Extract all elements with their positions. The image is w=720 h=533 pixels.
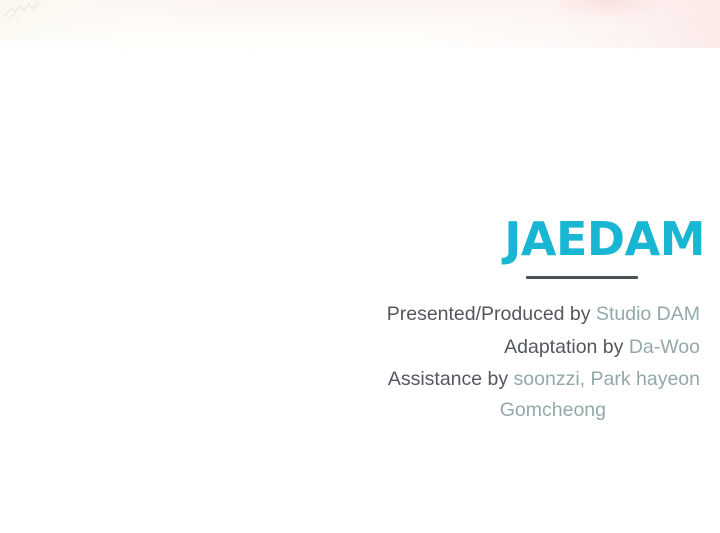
top-rose-highlight xyxy=(560,0,680,22)
credits-card: JAEDAM Presented/Produced by Studio DAM … xyxy=(0,0,720,533)
top-gradient-wash xyxy=(0,0,720,62)
credit-line-presented-produced: Presented/Produced by Studio DAM xyxy=(0,298,700,331)
credit-name-value: Studio DAM xyxy=(596,303,700,325)
corner-smudge-mark xyxy=(2,2,48,30)
jaedam-logo: JAEDAM xyxy=(0,214,712,264)
credit-role-label: Assistance by xyxy=(388,368,514,390)
top-left-gradient-wash xyxy=(0,0,230,40)
credit-name-value: soonzzi, Park hayeon xyxy=(514,368,700,390)
top-right-gradient-wash xyxy=(420,0,720,48)
credit-line-adaptation: Adaptation by Da-Woo xyxy=(0,331,700,364)
top-midband-wash xyxy=(120,30,640,64)
credit-line-assistance: Assistance by soonzzi, Park hayeon Gomch… xyxy=(0,363,700,425)
credit-lines: Presented/Produced by Studio DAM Adaptat… xyxy=(0,298,712,425)
credit-role-label: Presented/Produced by xyxy=(387,303,596,325)
credit-name-value: Da-Woo xyxy=(629,336,700,358)
credit-name-value-continued: Gomcheong xyxy=(0,396,700,425)
credit-role-label: Adaptation by xyxy=(504,336,629,358)
divider-rule xyxy=(526,276,638,279)
credits-block: JAEDAM Presented/Produced by Studio DAM … xyxy=(0,214,712,425)
divider-row xyxy=(0,269,712,287)
